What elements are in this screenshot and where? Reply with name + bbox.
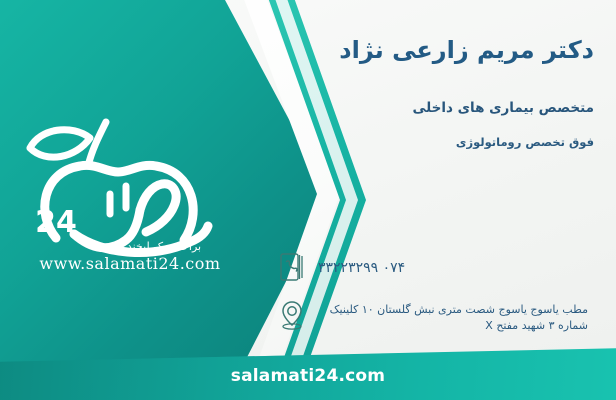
apple-leaf-icon: 24 براحتی یک لبخند: [14, 110, 246, 275]
doctor-subspecialty: فوق تخصص روماتولوژی: [456, 135, 594, 149]
location-pin-icon: [272, 294, 312, 336]
phone-book-icon: [272, 246, 312, 288]
logo-tagline: براحتی یک لبخند: [127, 240, 201, 253]
contact-row-phone: ۰۷۴ ۳۳۲۲۳۲۹۹: [272, 246, 602, 288]
clinic-address: مطب یاسوج یاسوج شصت متری نبش گلستان ۱۰ ک…: [318, 294, 588, 334]
doctor-name: دکتر مریم زارعی نژاد: [339, 36, 594, 64]
brand-logo: 24 براحتی یک لبخند www.salamati24.com: [14, 110, 246, 275]
contact-row-address: مطب یاسوج یاسوج شصت متری نبش گلستان ۱۰ ک…: [272, 294, 602, 336]
logo-website[interactable]: www.salamati24.com: [14, 254, 246, 273]
phone-number[interactable]: ۰۷۴ ۳۳۲۲۳۲۹۹: [318, 246, 405, 278]
business-card: 24 براحتی یک لبخند www.salamati24.com دک…: [0, 0, 616, 400]
doctor-specialty: متخصص بیماری های داخلی: [412, 100, 594, 116]
logo-badge-24: 24: [35, 205, 77, 240]
footer-website[interactable]: salamati24.com: [0, 366, 616, 386]
contact-block: ۰۷۴ ۳۳۲۲۳۲۹۹ مطب یاسوج یاسوج شصت متری نب…: [272, 246, 602, 342]
